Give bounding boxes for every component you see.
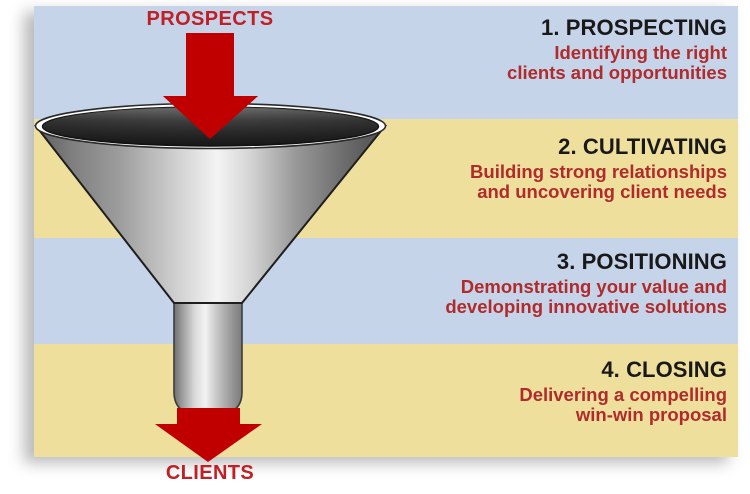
stage-text-1: 1. PROSPECTING Identifying the right cli… <box>327 16 727 84</box>
stage-description-1-line-2: clients and opportunities <box>327 63 727 84</box>
stage-title-1: 1. PROSPECTING <box>327 16 727 41</box>
stage-description-2-line-1: Building strong relationships <box>327 162 727 183</box>
stage-description-1-line-1: Identifying the right <box>327 43 727 64</box>
stage-title-3: 3. POSITIONING <box>327 250 727 275</box>
stage-band-stack: 1. PROSPECTING Identifying the right cli… <box>34 6 738 457</box>
stage-description-4-line-2: win-win proposal <box>327 405 727 426</box>
output-flow-label: CLIENTS <box>60 462 360 485</box>
stage-title-2: 2. CULTIVATING <box>327 135 727 160</box>
stage-description-4: Delivering a compelling win-win proposal <box>327 385 727 426</box>
stage-description-1: Identifying the right clients and opport… <box>327 43 727 84</box>
stage-text-4: 4. CLOSING Delivering a compelling win-w… <box>327 358 727 426</box>
stage-text-3: 3. POSITIONING Demonstrating your value … <box>327 250 727 318</box>
stage-description-3-line-1: Demonstrating your value and <box>327 277 727 298</box>
stage-description-2: Building strong relationships and uncove… <box>327 162 727 203</box>
stage-description-2-line-2: and uncovering client needs <box>327 182 727 203</box>
stage-description-4-line-1: Delivering a compelling <box>327 385 727 406</box>
input-flow-label: PROSPECTS <box>60 8 360 31</box>
stage-title-4: 4. CLOSING <box>327 358 727 383</box>
stage-text-2: 2. CULTIVATING Building strong relations… <box>327 135 727 203</box>
funnel-diagram: 1. PROSPECTING Identifying the right cli… <box>0 0 750 494</box>
stage-description-3: Demonstrating your value and developing … <box>327 277 727 318</box>
stage-description-3-line-2: developing innovative solutions <box>327 297 727 318</box>
